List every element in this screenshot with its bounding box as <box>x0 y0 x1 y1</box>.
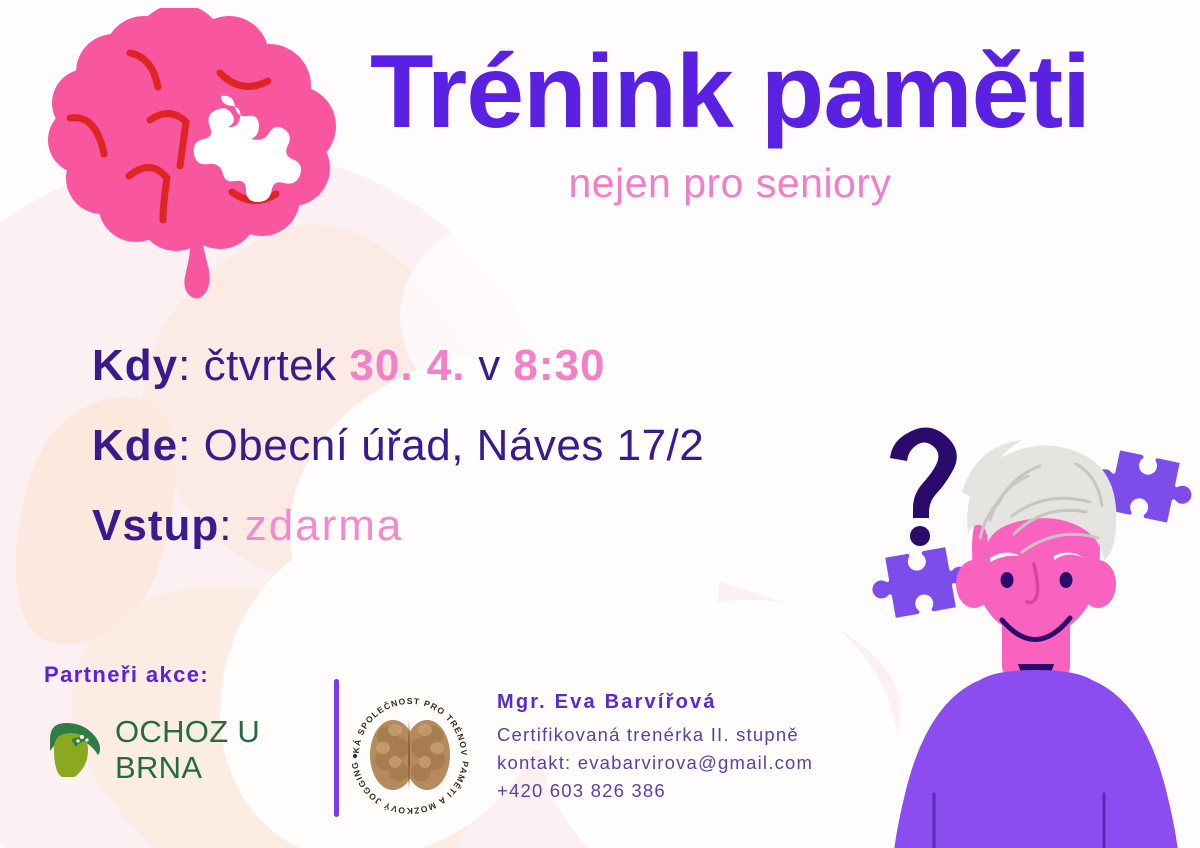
detail-value-day: čtvrtek <box>204 341 350 390</box>
walnut-brain-logo: ČESKÁ SPOLEČNOST PRO TRÉNOVÁNÍ PAMĚTI A … <box>345 690 475 820</box>
contact-email[interactable]: kontakt: evabarvirova@gmail.com <box>497 749 897 777</box>
detail-line-entry: Vstup: zdarma <box>92 493 972 559</box>
detail-sep-vstup: : <box>219 501 244 550</box>
detail-label-kde: Kde <box>92 421 178 470</box>
partner-ochoz-u-brna: OCHOZ U BRNA <box>44 714 334 786</box>
detail-value-v: v <box>465 341 513 390</box>
poster-canvas: Trénink paměti nejen pro seniory Kdy: čt… <box>0 0 1200 848</box>
detail-line-where: Kde: Obecní úřad, Náves 17/2 <box>92 413 972 479</box>
question-mark-icon <box>890 427 957 546</box>
contact-phone[interactable]: +420 603 826 386 <box>497 777 897 805</box>
contact-block: Mgr. Eva Barvířová Certifikovaná trenérk… <box>497 691 897 805</box>
detail-label-kdy: Kdy <box>92 341 178 390</box>
page-subtitle: nejen pro seniory <box>330 160 1130 207</box>
detail-sep-kdy: : <box>178 341 203 390</box>
partners-heading: Partneři akce: <box>44 662 334 688</box>
contact-role: Certifikovaná trenérka II. stupně <box>497 721 897 749</box>
detail-sep-kde: : <box>178 421 203 470</box>
partners-section: Partneři akce: OCHOZ U BRNA <box>44 662 334 786</box>
detail-value-price: zdarma <box>245 501 404 550</box>
detail-value-time: 8:30 <box>513 341 605 390</box>
detail-value-address: Obecní úřad, Náves 17/2 <box>204 421 705 470</box>
detail-label-vstup: Vstup <box>92 501 219 550</box>
vertical-divider <box>334 679 339 817</box>
title-block: Trénink paměti nejen pro seniory <box>330 38 1130 207</box>
brain-with-puzzle-piece-icon <box>24 8 354 308</box>
page-title: Trénink paměti <box>330 38 1130 146</box>
contact-name: Mgr. Eva Barvířová <box>497 691 897 714</box>
senior-woman-illustration <box>862 412 1200 848</box>
detail-value-date: 30. 4. <box>349 341 465 390</box>
ochoz-u-brna-logo <box>44 719 102 782</box>
detail-line-when: Kdy: čtvrtek 30. 4. v 8:30 <box>92 333 972 399</box>
ochoz-u-brna-label: OCHOZ U BRNA <box>115 714 334 786</box>
event-details: Kdy: čtvrtek 30. 4. v 8:30 Kde: Obecní ú… <box>92 333 972 559</box>
